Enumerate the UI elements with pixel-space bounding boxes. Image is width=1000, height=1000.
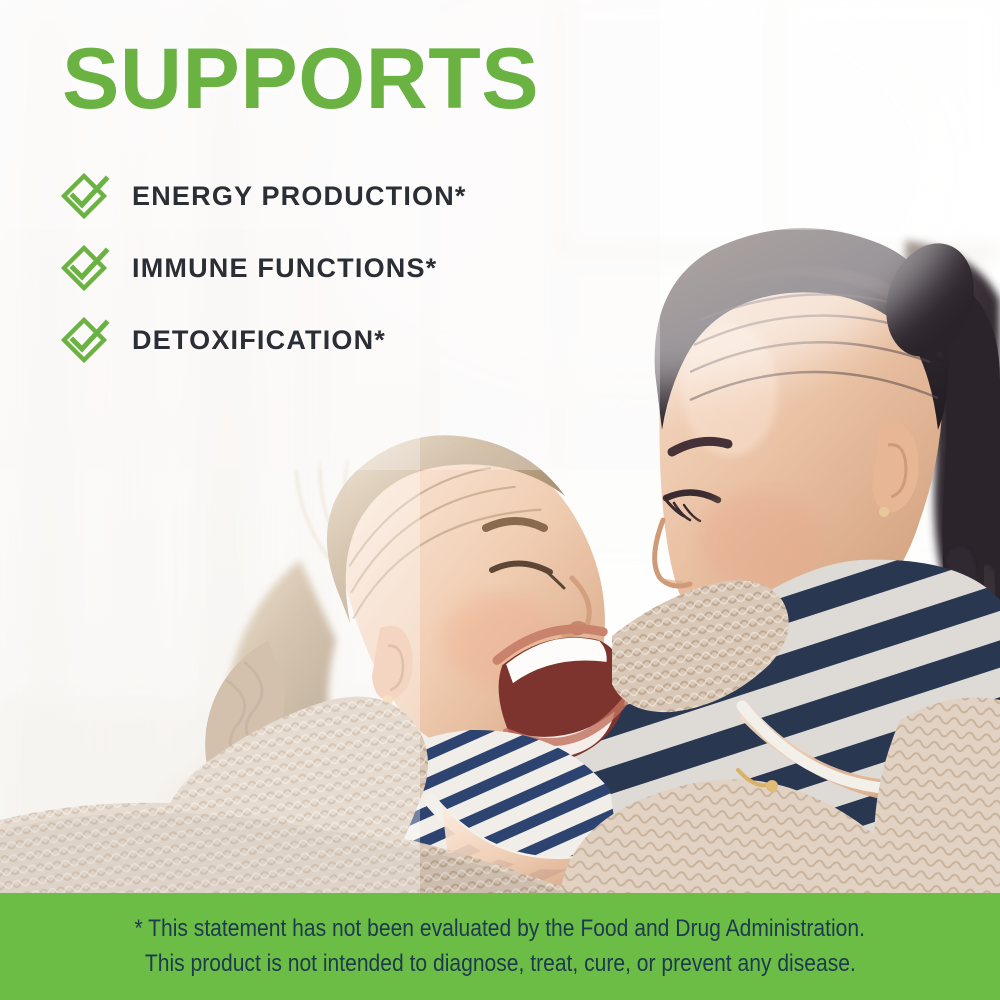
diamond-check-icon: [58, 242, 110, 294]
diamond-check-icon: [58, 314, 110, 366]
benefit-item-immune-functions: IMMUNE FUNCTIONS*: [58, 234, 618, 302]
fda-disclaimer-banner: * This statement has not been evaluated …: [0, 893, 1000, 1000]
supports-marketing-panel: SUPPORTS ENERGY PRODUCTION* IMMUNE FUNCT…: [0, 0, 1000, 1000]
benefit-label: DETOXIFICATION*: [132, 325, 386, 356]
mother-and-daughter-laughing-photo: [0, 0, 1000, 893]
page-title: SUPPORTS: [62, 36, 539, 122]
benefit-label: IMMUNE FUNCTIONS*: [132, 253, 437, 284]
benefit-item-energy-production: ENERGY PRODUCTION*: [58, 162, 618, 230]
benefit-item-detoxification: DETOXIFICATION*: [58, 306, 618, 374]
benefit-label: ENERGY PRODUCTION*: [132, 181, 467, 212]
benefits-list: ENERGY PRODUCTION* IMMUNE FUNCTIONS* DET…: [58, 162, 618, 378]
disclaimer-line-1: * This statement has not been evaluated …: [135, 912, 865, 947]
disclaimer-line-2: This product is not intended to diagnose…: [145, 947, 856, 982]
diamond-check-icon: [58, 170, 110, 222]
